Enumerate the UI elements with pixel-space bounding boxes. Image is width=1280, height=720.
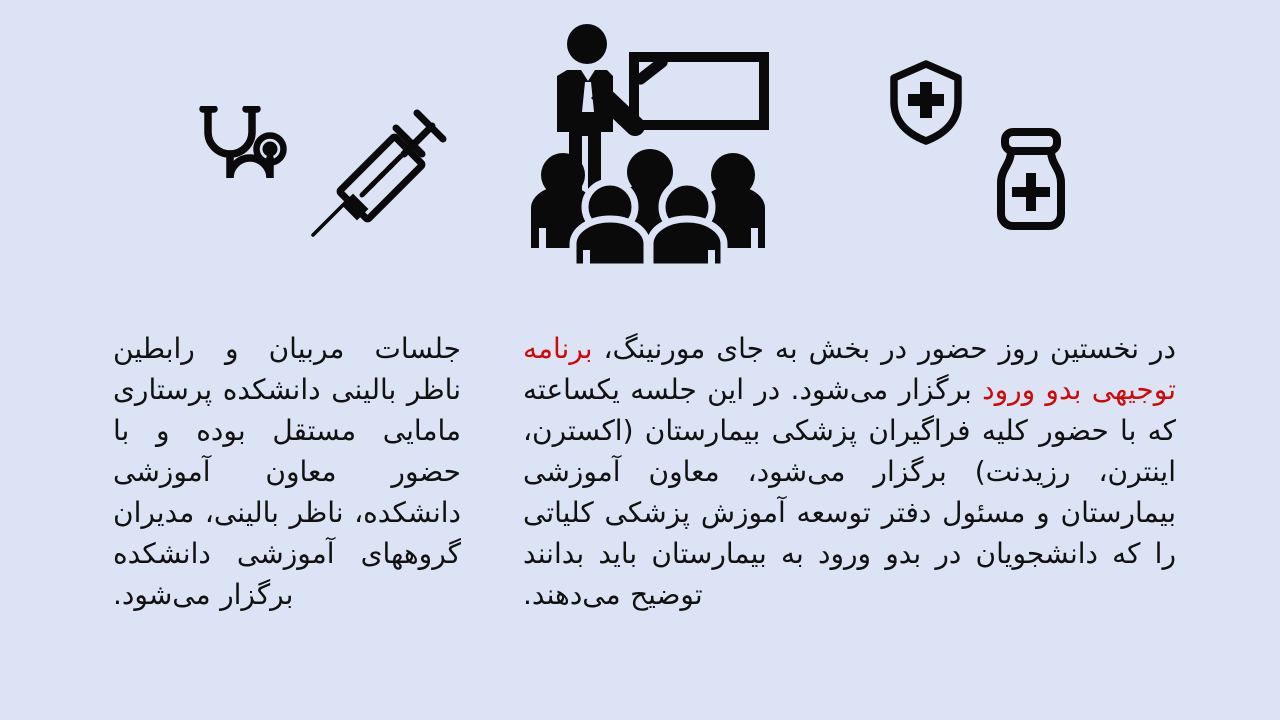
paragraph-right-part1: در نخستین روز حضور در بخش به جای مورنینگ… bbox=[593, 332, 1176, 365]
slide-canvas: جلسات مربیان و رابطین ناظر بالینی دانشکد… bbox=[0, 0, 1280, 720]
text-column-left: جلسات مربیان و رابطین ناظر بالینی دانشکد… bbox=[113, 328, 461, 615]
icon-band bbox=[0, 0, 1280, 290]
medicine-bottle-icon bbox=[990, 128, 1072, 233]
paragraph-right: در نخستین روز حضور در بخش به جای مورنینگ… bbox=[523, 328, 1176, 615]
text-column-right: در نخستین روز حضور در بخش به جای مورنینگ… bbox=[523, 328, 1176, 615]
presentation-icon bbox=[525, 22, 775, 267]
syringe-icon bbox=[305, 108, 450, 243]
paragraph-left: جلسات مربیان و رابطین ناظر بالینی دانشکد… bbox=[113, 328, 461, 615]
paragraph-right-part2: برگزار می‌شود. در این جلسه یکساعته که با… bbox=[523, 373, 1176, 611]
stethoscope-icon bbox=[190, 106, 290, 211]
shield-plus-icon bbox=[890, 60, 962, 145]
